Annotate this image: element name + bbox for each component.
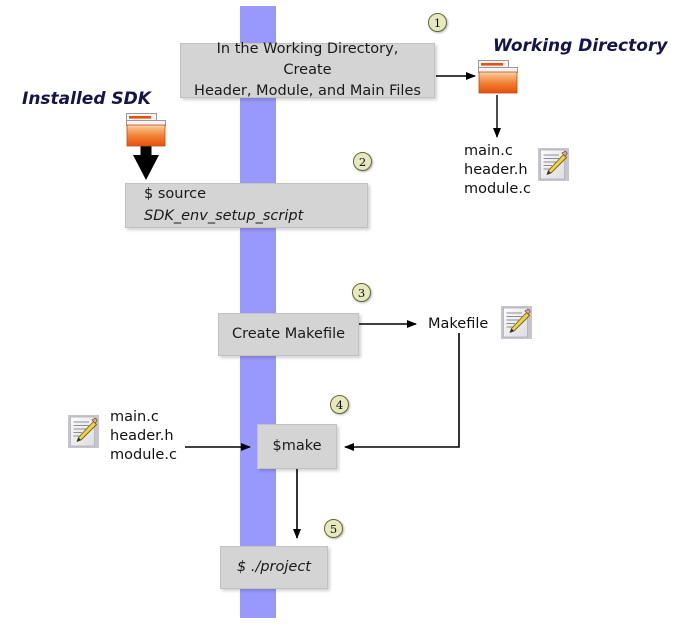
step-4-box[interactable]: $make [257,424,337,469]
working-dir-file-0: main.c [464,142,531,161]
makefile-label: Makefile [428,315,488,334]
working-dir-files: main.c header.h module.c [464,142,531,199]
step-4-badge: 4 [330,395,349,414]
sources-doc-icon [68,415,99,448]
step-5-badge: 5 [324,519,343,538]
makefile-doc-icon [501,306,532,339]
step-3-number: 3 [358,286,365,300]
working-dir-doc-icon [538,148,569,181]
installed-sdk-heading: Installed SDK [22,89,151,109]
source-file-0: main.c [110,408,177,427]
step-3-box[interactable]: Create Makefile [218,313,359,356]
step-5-box[interactable]: $ ./project [220,546,328,589]
step-2-script-name: SDK_env_setup_script [144,208,303,224]
working-dir-file-2: module.c [464,180,531,199]
step-2-command: $ source [144,186,206,202]
step-2-number: 2 [359,155,366,169]
step-2-label: $ source SDK_env_setup_script [144,184,357,226]
step-2-badge: 2 [353,152,372,171]
source-file-1: header.h [110,427,177,446]
step-5-label: $ ./project [237,557,311,578]
step-1-label: In the Working Directory, Create Header,… [191,39,424,102]
step-1-line-1: In the Working Directory, Create [217,41,399,78]
installed-sdk-folder-icon [126,113,166,147]
working-dir-file-1: header.h [464,161,531,180]
working-directory-heading: Working Directory [493,36,667,56]
step-5-number: 5 [330,522,337,536]
step-4-label: $make [272,436,321,457]
step-1-badge: 1 [428,13,447,32]
diagram-canvas: In the Working Directory, Create Header,… [0,0,687,624]
step-2-box[interactable]: $ source SDK_env_setup_script [125,183,368,228]
working-dir-folder-icon [478,60,518,94]
step-4-number: 4 [336,398,343,412]
step-1-box[interactable]: In the Working Directory, Create Header,… [180,43,435,98]
step-1-line-2: Header, Module, and Main Files [194,83,421,99]
source-files: main.c header.h module.c [110,408,177,465]
step-3-label: Create Makefile [232,324,345,345]
source-file-2: module.c [110,446,177,465]
step-1-number: 1 [434,16,441,30]
step-3-badge: 3 [352,283,371,302]
